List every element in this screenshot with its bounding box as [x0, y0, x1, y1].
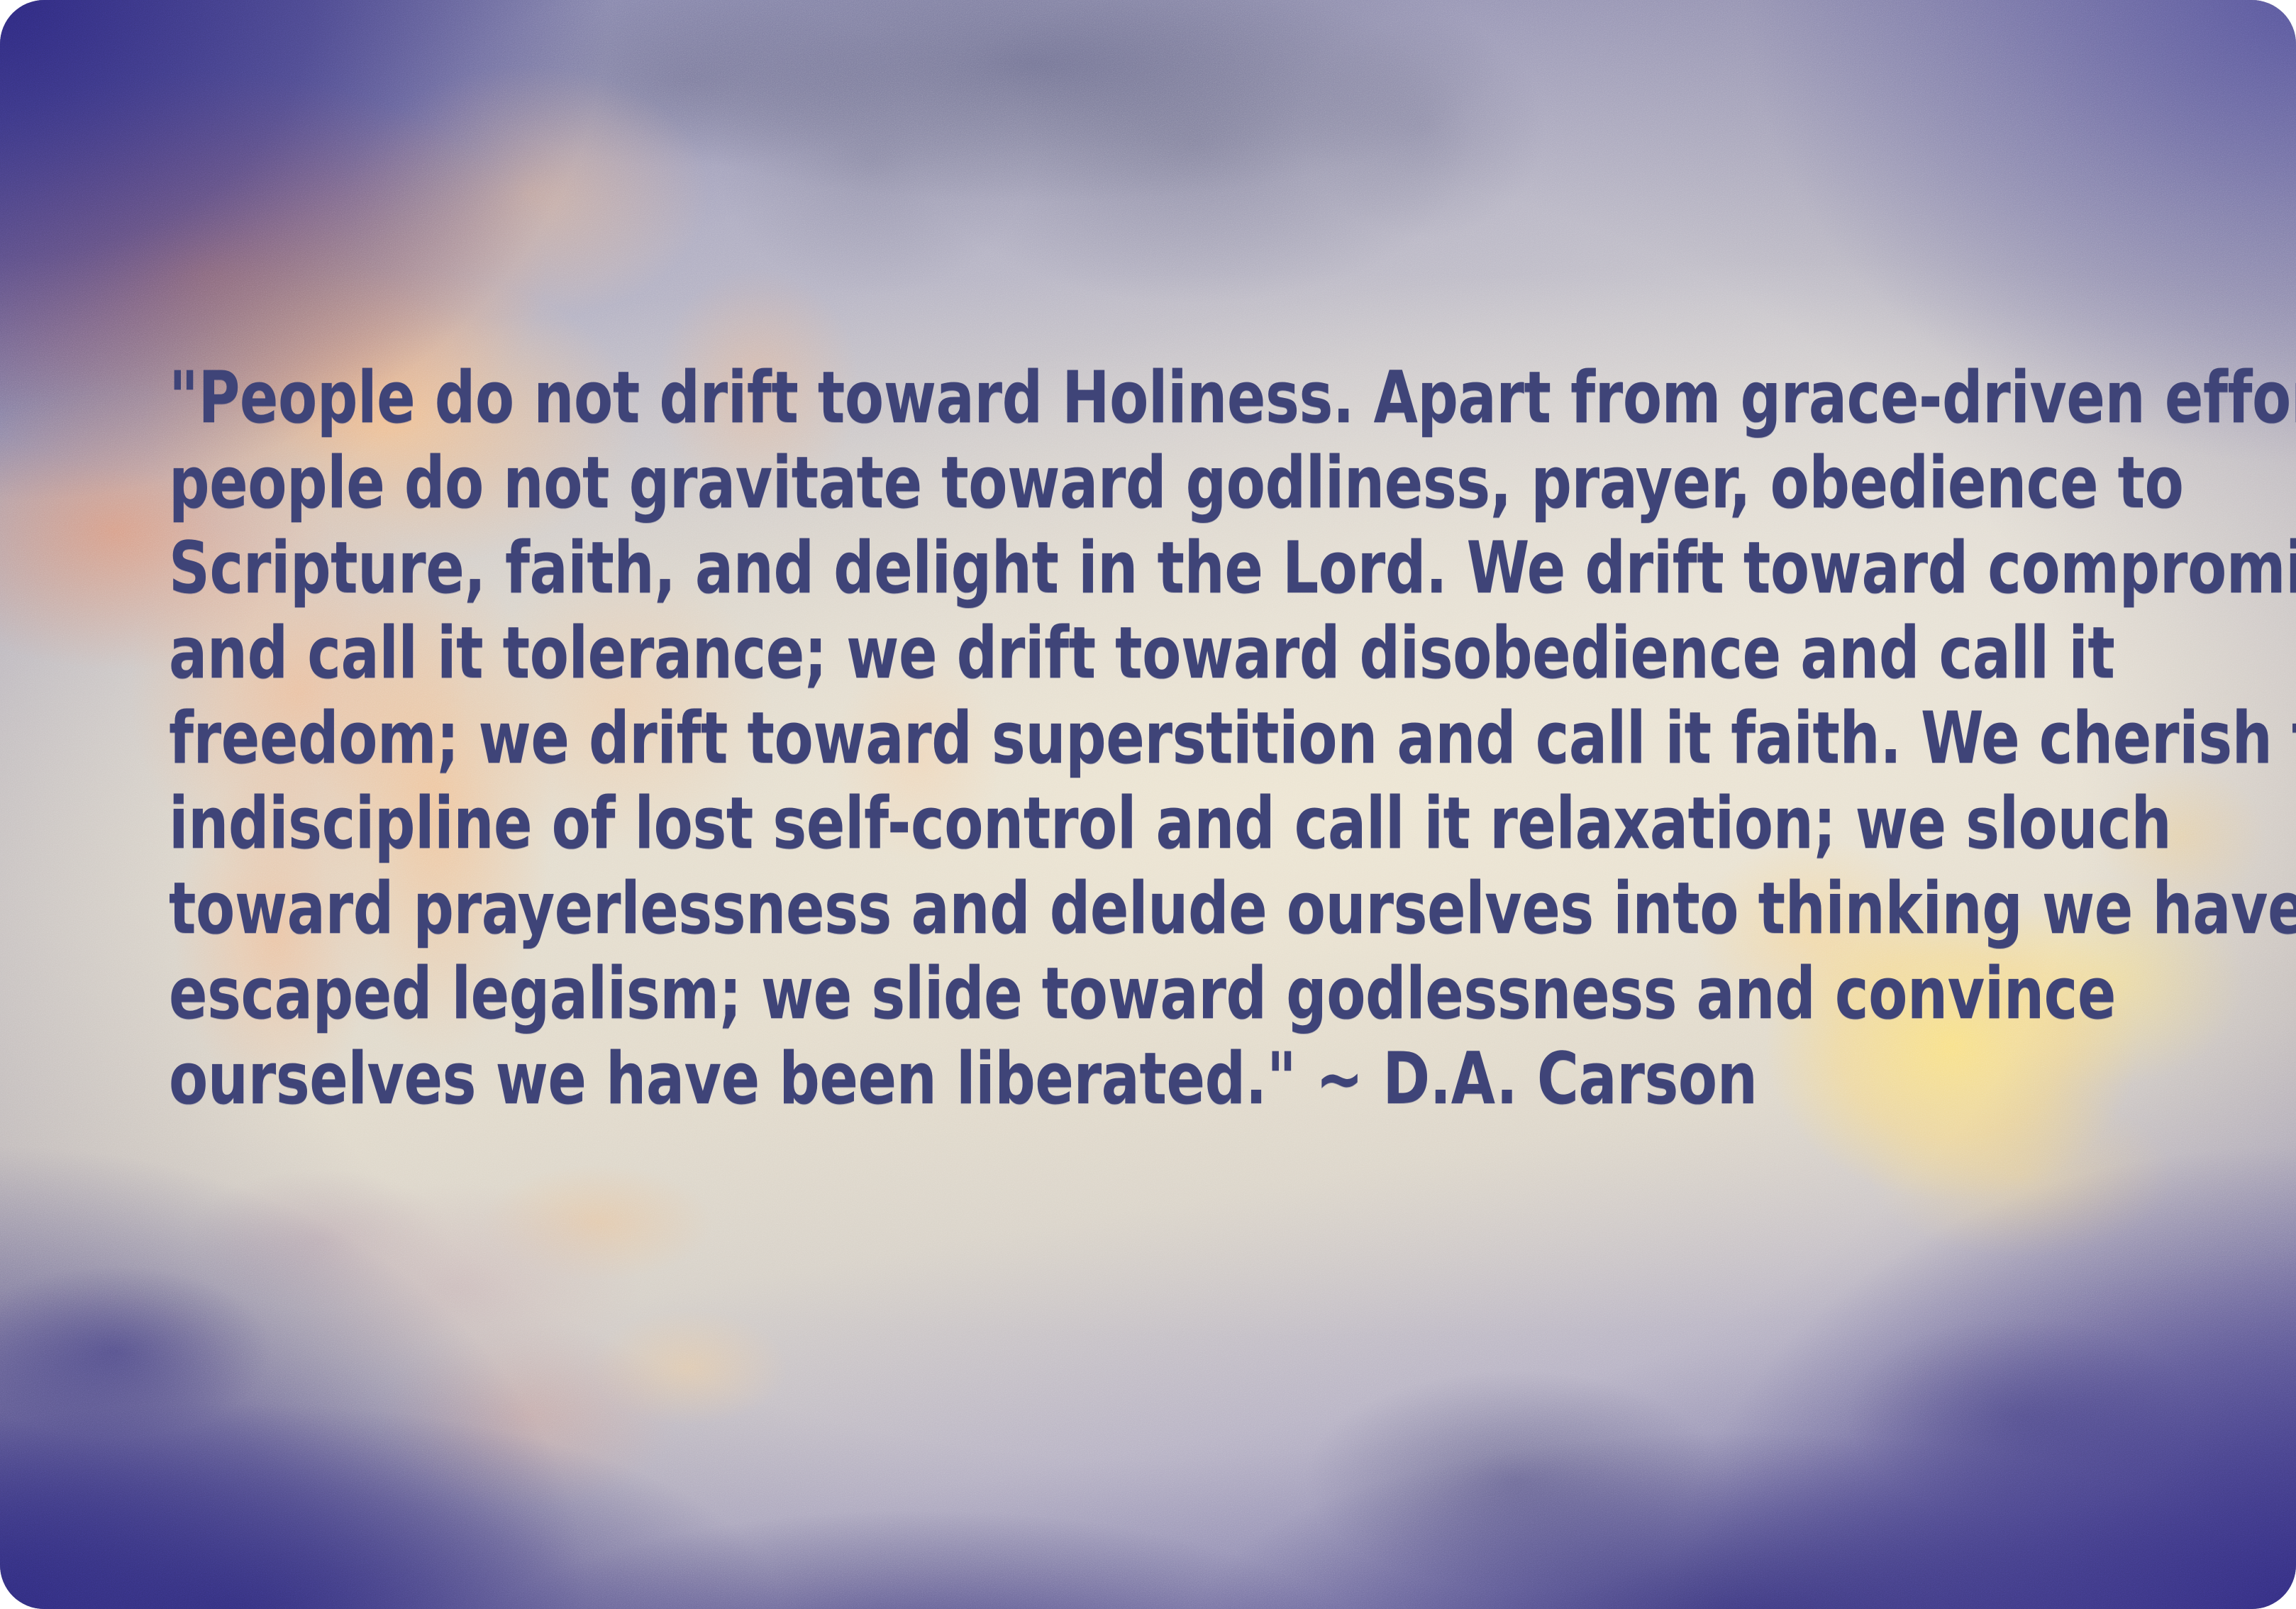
quote-line: escaped legalism; we slide toward godles… — [169, 951, 1920, 1036]
quote-line: Scripture, faith, and delight in the Lor… — [169, 525, 1920, 610]
quote-poster: "People do not drift toward Holiness. Ap… — [0, 0, 2296, 1609]
quote-line: and call it tolerance; we drift toward d… — [169, 610, 1920, 695]
quote-line: "People do not drift toward Holiness. Ap… — [169, 355, 1920, 440]
quote-line: indiscipline of lost self-control and ca… — [169, 780, 1920, 866]
quote-line: freedom; we drift toward superstition an… — [169, 695, 1920, 780]
quote-attribution-line: ourselves we have been liberated." ~ D.A… — [169, 1036, 1920, 1121]
quote-text-block: "People do not drift toward Holiness. Ap… — [169, 355, 2148, 1121]
quote-line: people do not gravitate toward godliness… — [169, 440, 1920, 525]
quote-line: toward prayerlessness and delude ourselv… — [169, 866, 1920, 951]
